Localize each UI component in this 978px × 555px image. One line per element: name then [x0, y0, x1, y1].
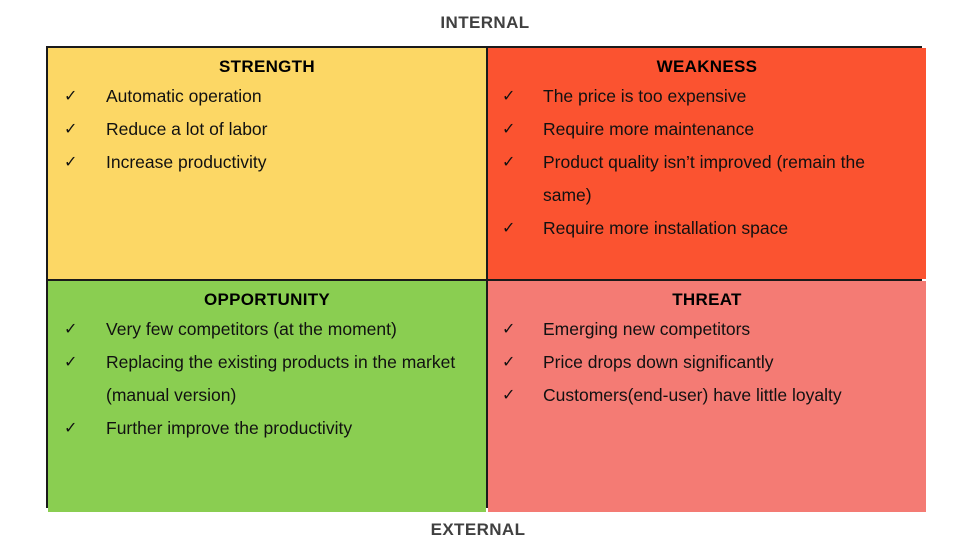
check-icon: ✓	[502, 379, 520, 412]
check-icon: ✓	[502, 146, 520, 179]
check-icon: ✓	[64, 313, 82, 346]
check-icon: ✓	[64, 80, 82, 113]
list-item: ✓Require more installation space	[488, 212, 926, 245]
axis-label-external: EXTERNAL	[0, 520, 956, 540]
list-item: ✓Price drops down significantly	[488, 346, 926, 379]
weakness-item-list: ✓The price is too expensive✓Require more…	[488, 80, 926, 245]
list-item: ✓Increase productivity	[48, 146, 486, 179]
list-item: ✓The price is too expensive	[488, 80, 926, 113]
list-item-label: Product quality isn’t improved (remain t…	[543, 152, 865, 205]
threat-item-list: ✓Emerging new competitors✓Price drops do…	[488, 313, 926, 412]
check-icon: ✓	[64, 113, 82, 146]
check-icon: ✓	[64, 346, 82, 379]
list-item-label: Automatic operation	[106, 86, 262, 106]
axis-label-internal: INTERNAL	[0, 13, 970, 33]
check-icon: ✓	[502, 313, 520, 346]
quadrant-title-opportunity: OPPORTUNITY	[48, 290, 486, 310]
list-item-label: Very few competitors (at the moment)	[106, 319, 397, 339]
list-item: ✓Require more maintenance	[488, 113, 926, 146]
strength-item-list: ✓Automatic operation✓Reduce a lot of lab…	[48, 80, 486, 179]
check-icon: ✓	[502, 113, 520, 146]
opportunity-item-list: ✓Very few competitors (at the moment)✓Re…	[48, 313, 486, 445]
quadrant-title-threat: THREAT	[488, 290, 926, 310]
check-icon: ✓	[502, 212, 520, 245]
list-item-label: Require more maintenance	[543, 119, 754, 139]
list-item-label: Further improve the productivity	[106, 418, 352, 438]
list-item-label: Customers(end-user) have little loyalty	[543, 385, 842, 405]
list-item-label: Increase productivity	[106, 152, 267, 172]
list-item: ✓Reduce a lot of labor	[48, 113, 486, 146]
swot-matrix: STRENGTH ✓Automatic operation✓Reduce a l…	[46, 46, 922, 508]
check-icon: ✓	[502, 80, 520, 113]
quadrant-title-weakness: WEAKNESS	[488, 57, 926, 77]
check-icon: ✓	[502, 346, 520, 379]
list-item-label: Price drops down significantly	[543, 352, 774, 372]
swot-analysis-diagram: INTERNAL STRENGTH ✓Automatic operation✓R…	[0, 0, 978, 555]
list-item-label: Replacing the existing products in the m…	[106, 352, 455, 405]
list-item-label: Require more installation space	[543, 218, 788, 238]
quadrant-opportunity: OPPORTUNITY ✓Very few competitors (at th…	[48, 281, 486, 512]
list-item: ✓Customers(end-user) have little loyalty	[488, 379, 926, 412]
list-item: ✓Replacing the existing products in the …	[48, 346, 486, 412]
list-item: ✓Product quality isn’t improved (remain …	[488, 146, 926, 212]
list-item: ✓Emerging new competitors	[488, 313, 926, 346]
list-item: ✓Automatic operation	[48, 80, 486, 113]
list-item: ✓Very few competitors (at the moment)	[48, 313, 486, 346]
list-item-label: The price is too expensive	[543, 86, 746, 106]
quadrant-weakness: WEAKNESS ✓The price is too expensive✓Req…	[488, 48, 926, 279]
list-item-label: Reduce a lot of labor	[106, 119, 268, 139]
quadrant-title-strength: STRENGTH	[48, 57, 486, 77]
list-item-label: Emerging new competitors	[543, 319, 750, 339]
check-icon: ✓	[64, 412, 82, 445]
check-icon: ✓	[64, 146, 82, 179]
quadrant-threat: THREAT ✓Emerging new competitors✓Price d…	[488, 281, 926, 512]
list-item: ✓Further improve the productivity	[48, 412, 486, 445]
quadrant-strength: STRENGTH ✓Automatic operation✓Reduce a l…	[48, 48, 486, 279]
